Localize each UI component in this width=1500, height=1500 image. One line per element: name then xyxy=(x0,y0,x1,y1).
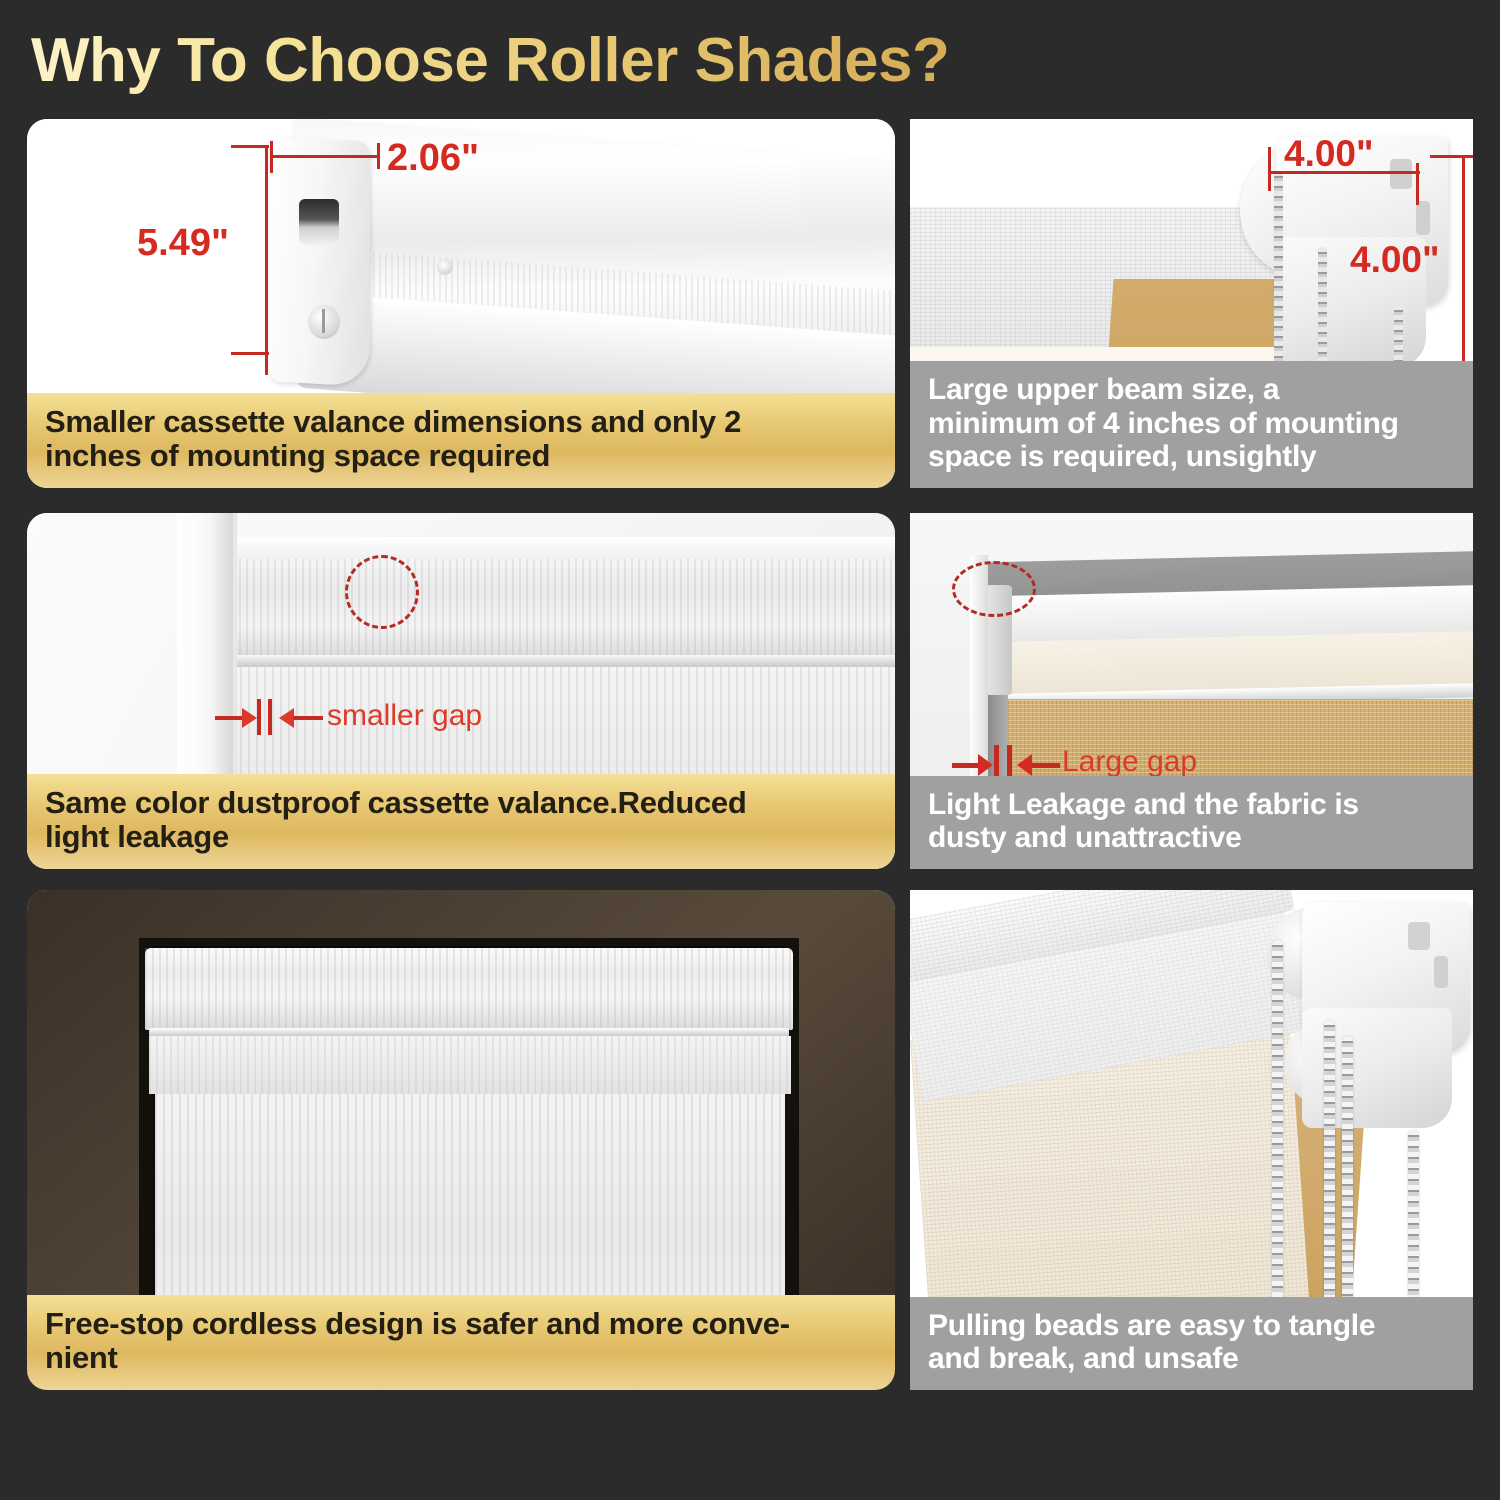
height-dimension-label: 5.49" xyxy=(137,222,229,265)
caption-row2-right: Light Leakage and the fabric is dusty an… xyxy=(910,776,1473,869)
large-gap-label: Large gap xyxy=(1062,745,1197,779)
width-dimension-label: 2.06" xyxy=(387,137,479,180)
gap-highlight-circle xyxy=(345,555,419,629)
panel-row3-left: Free-stop cordless design is safer and m… xyxy=(27,890,895,1390)
gap-highlight-circle xyxy=(952,561,1036,617)
beam-width-dimension-label: 4.00" xyxy=(1284,133,1374,175)
caption-line: space is required, unsightly xyxy=(928,440,1457,474)
caption-line: Smaller cassette valance dimensions and … xyxy=(45,405,879,440)
caption-row3-left: Free-stop cordless design is safer and m… xyxy=(27,1295,895,1390)
panel-row2-left: smaller gap Same color dustproof cassett… xyxy=(27,513,895,869)
caption-line: light leakage xyxy=(45,820,879,855)
panel-row1-right: 4.00" 4.00" Large upper beam size, a min… xyxy=(910,119,1473,488)
panel-row3-right: Pulling beads are easy to tangle and bre… xyxy=(910,890,1473,1390)
caption-line: and break, and unsafe xyxy=(928,1342,1457,1376)
page-title: Why To Choose Roller Shades? xyxy=(31,22,1131,100)
caption-row2-left: Same color dustproof cassette valance.Re… xyxy=(27,774,895,869)
caption-line: inches of mounting space required xyxy=(45,439,879,474)
beam-height-dimension-label: 4.00" xyxy=(1350,239,1440,281)
panel-row2-right: Large gap Light Leakage and the fabric i… xyxy=(910,513,1473,869)
caption-line: dusty and unattractive xyxy=(928,821,1457,855)
caption-row1-left: Smaller cassette valance dimensions and … xyxy=(27,393,895,488)
caption-row3-right: Pulling beads are easy to tangle and bre… xyxy=(910,1297,1473,1390)
smaller-gap-label: smaller gap xyxy=(327,699,482,733)
caption-line: nient xyxy=(45,1341,879,1376)
caption-line: Same color dustproof cassette valance.Re… xyxy=(45,786,879,821)
caption-line: minimum of 4 inches of mounting xyxy=(928,407,1457,441)
caption-line: Pulling beads are easy to tangle xyxy=(928,1309,1457,1343)
caption-line: Large upper beam size, a xyxy=(928,373,1457,407)
caption-line: Free-stop cordless design is safer and m… xyxy=(45,1307,879,1342)
caption-line: Light Leakage and the fabric is xyxy=(928,788,1457,822)
caption-row1-right: Large upper beam size, a minimum of 4 in… xyxy=(910,361,1473,488)
panel-row1-left: 2.06" 5.49" Smaller cassette valance dim… xyxy=(27,119,895,488)
